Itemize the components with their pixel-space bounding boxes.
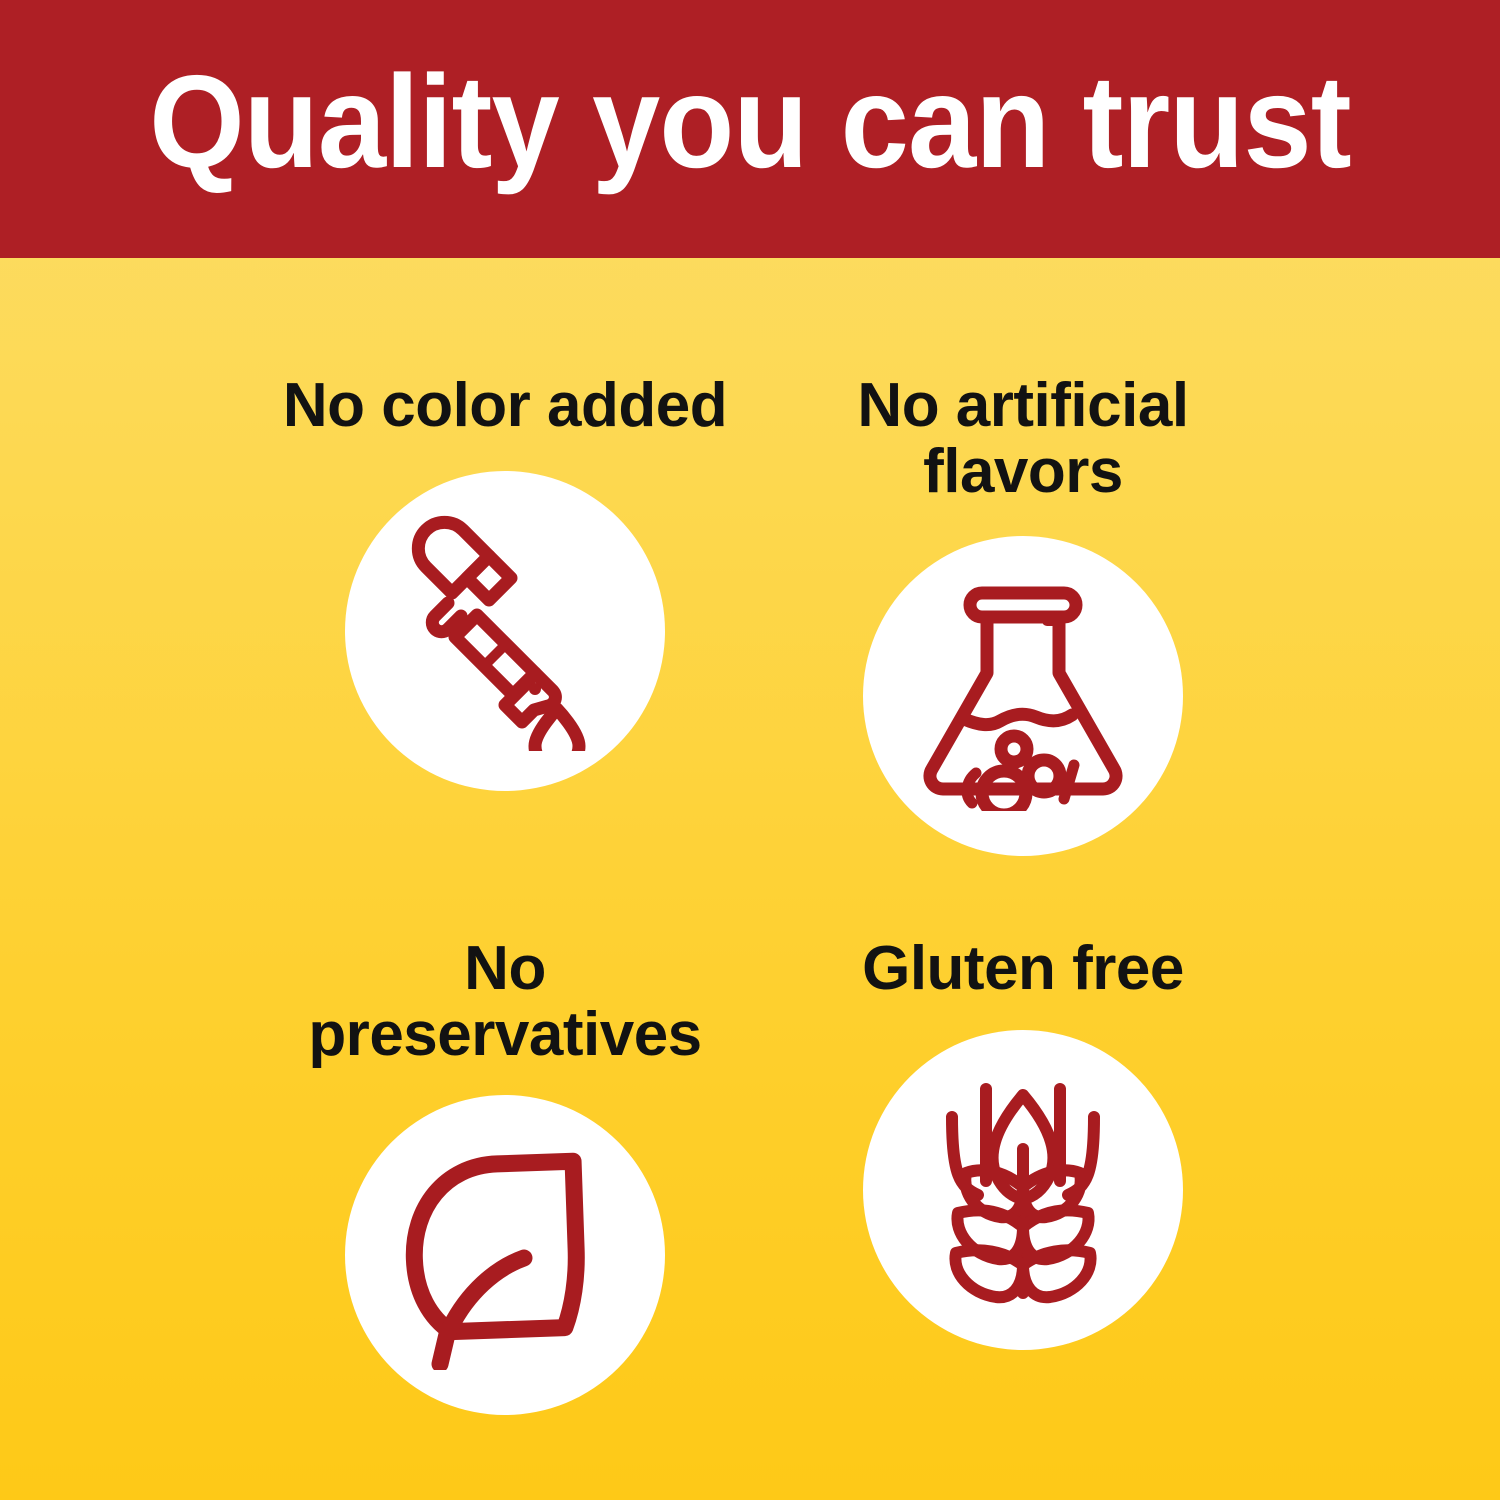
header-band: Quality you can trust (0, 0, 1500, 258)
feature-grid: No color added (0, 258, 1500, 1500)
feature-label: No color added (283, 373, 727, 439)
quality-infographic: Quality you can trust No color added (0, 0, 1500, 1500)
dropper-icon (385, 511, 625, 751)
page-title: Quality you can trust (149, 56, 1350, 202)
feature-no-artificial-flavors: No artificial flavors (743, 373, 1303, 856)
icon-badge (345, 471, 665, 791)
feature-label: Gluten free (862, 936, 1184, 1002)
feature-gluten-free: Gluten free (743, 936, 1303, 1350)
wheat-icon (908, 1075, 1138, 1305)
icon-badge (863, 1030, 1183, 1350)
leaf-icon (390, 1140, 620, 1370)
feature-label: No preservatives (270, 936, 740, 1067)
feature-no-color-added: No color added (225, 373, 785, 791)
feature-no-preservatives: No preservatives (225, 936, 785, 1415)
flask-icon (908, 581, 1138, 811)
icon-badge (863, 536, 1183, 856)
icon-badge (345, 1095, 665, 1415)
feature-label: No artificial flavors (788, 373, 1258, 504)
